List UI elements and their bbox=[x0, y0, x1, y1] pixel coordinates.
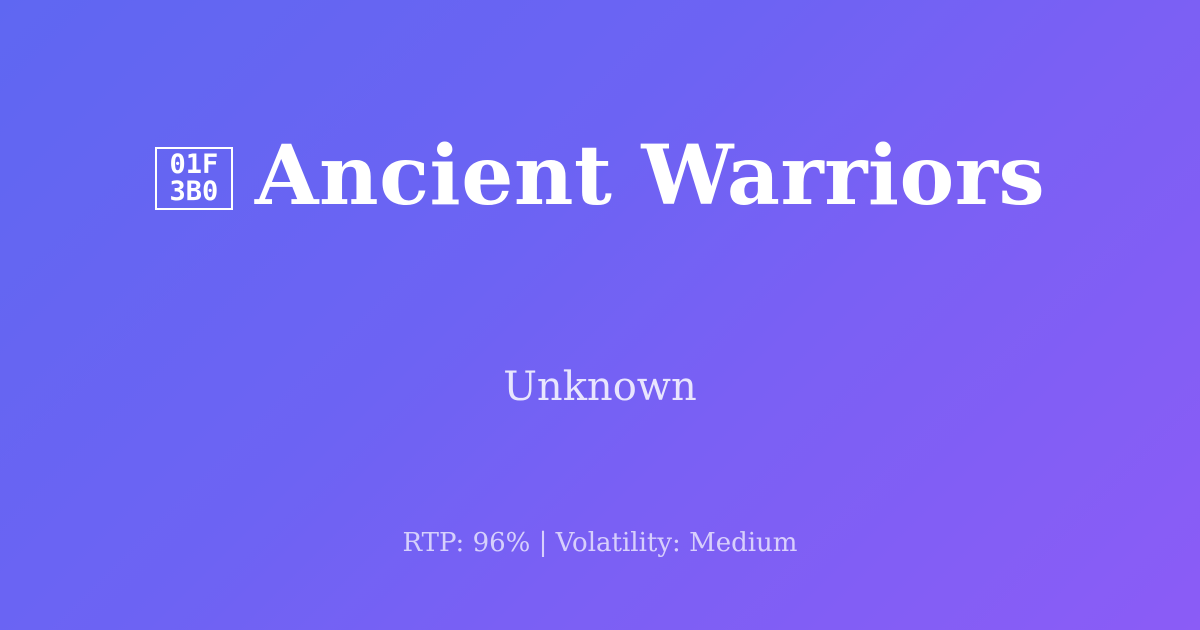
tofu-codepoint-bottom: 3B0 bbox=[169, 178, 218, 205]
game-stats-line: RTP: 96% | Volatility: Medium bbox=[0, 526, 1200, 560]
title-row: 01F 3B0 Ancient Warriors bbox=[0, 0, 1200, 352]
game-title: Ancient Warriors bbox=[255, 130, 1045, 222]
game-preview-card: 01F 3B0 Ancient Warriors Unknown RTP: 96… bbox=[0, 0, 1200, 630]
slot-machine-emoji-tofu-icon: 01F 3B0 bbox=[155, 147, 233, 210]
game-provider-subtitle: Unknown bbox=[0, 362, 1200, 412]
tofu-codepoint-top: 01F bbox=[169, 151, 218, 178]
